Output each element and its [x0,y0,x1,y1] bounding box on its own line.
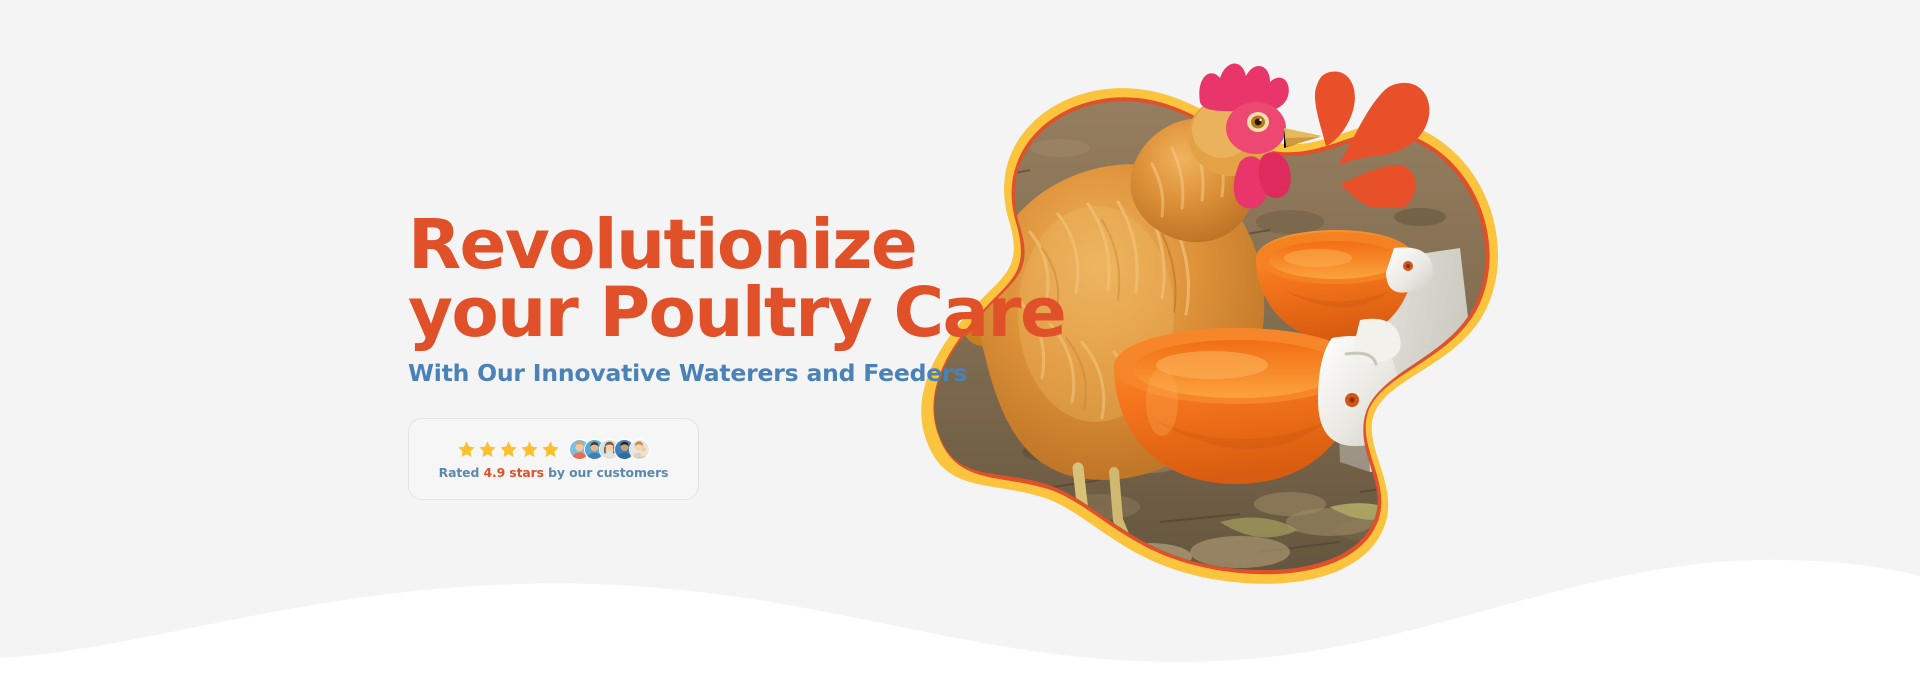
water-splash-decoration [1300,62,1460,207]
star-icon [499,440,518,459]
rating-caption-suffix: by our customers [544,465,668,480]
headline-line-2: your Poultry Care [408,280,968,348]
avatar [629,439,650,460]
hero-text-column: Revolutionize your Poultry Care With Our… [408,212,968,500]
page-title: Revolutionize your Poultry Care [408,212,968,347]
rating-caption-prefix: Rated [439,465,484,480]
star-icon [457,440,476,459]
star-icon [478,440,497,459]
rating-badge-top-row [457,439,650,460]
splash-drop-3 [1340,165,1416,207]
hero-section: Revolutionize your Poultry Care With Our… [0,0,1920,700]
customer-avatar-group[interactable] [569,439,650,460]
star-icon [541,440,560,459]
page-subtitle: With Our Innovative Waterers and Feeders [408,359,968,387]
rating-badge[interactable]: Rated 4.9 stars by our customers [408,418,699,500]
rating-value: 4.9 stars [483,465,544,480]
splash-drop-1 [1315,71,1355,146]
star-icon [520,440,539,459]
star-rating [457,440,560,459]
rating-caption: Rated 4.9 stars by our customers [439,465,669,480]
